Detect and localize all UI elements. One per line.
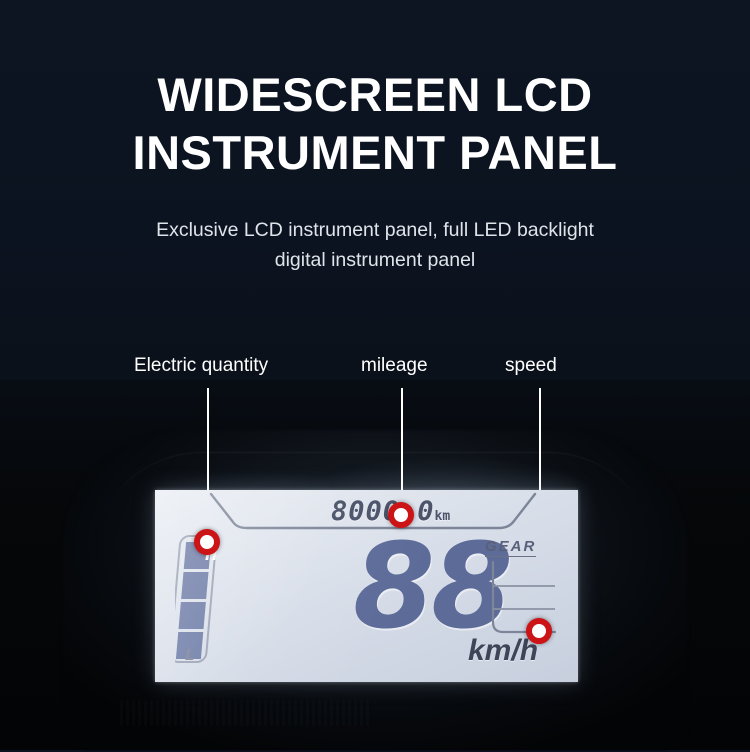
housing-highlight-center xyxy=(300,455,600,495)
page-title: WIDESCREEN LCD INSTRUMENT PANEL xyxy=(0,66,750,182)
page-subtitle-line-1: Exclusive LCD instrument panel, full LED… xyxy=(0,215,750,245)
page-subtitle: Exclusive LCD instrument panel, full LED… xyxy=(0,215,750,275)
page-title-line-1: WIDESCREEN LCD xyxy=(0,66,750,124)
battery-low-label: L xyxy=(185,646,195,664)
marker-electric-quantity xyxy=(194,529,220,555)
marker-mileage xyxy=(388,502,414,528)
speed-unit-label: km/h xyxy=(468,634,538,668)
housing-vent-texture xyxy=(120,700,370,726)
page-subtitle-line-2: digital instrument panel xyxy=(0,245,750,275)
gear-label: GEAR xyxy=(485,538,536,557)
lcd-display-panel: H L 8000.0km 88 GEAR km/h xyxy=(155,490,578,682)
callout-label-mileage: mileage xyxy=(361,355,428,377)
marker-speed xyxy=(526,618,552,644)
callout-label-speed: speed xyxy=(505,355,557,377)
instrument-panel-promo: WIDESCREEN LCD INSTRUMENT PANEL Exclusiv… xyxy=(0,0,750,750)
callout-label-electric-quantity: Electric quantity xyxy=(134,355,268,377)
page-title-line-2: INSTRUMENT PANEL xyxy=(0,124,750,182)
